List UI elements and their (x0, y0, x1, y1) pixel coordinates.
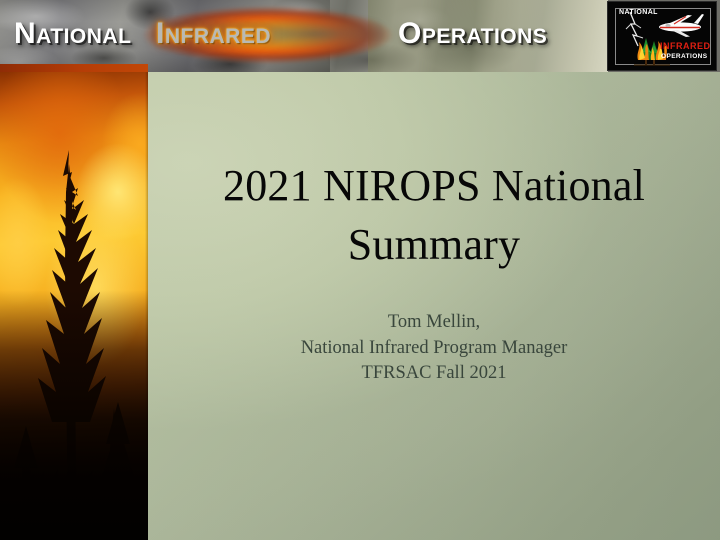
logo-text-operations: OPERATIONS (661, 53, 708, 60)
subtitle-line-role: National Infrared Program Manager (166, 336, 702, 362)
slide-title: 2021 NIROPS National Summary (166, 157, 702, 275)
presentation-slide: National Infrared Operations (0, 0, 720, 540)
nirops-logo: NATIONAL INFRARED OPERATIONS (607, 1, 717, 71)
header-banner: National Infrared Operations (0, 0, 720, 72)
logo-text-infrared: INFRARED (660, 41, 711, 51)
slide-content: 2021 NIROPS National Summary Tom Mellin,… (148, 72, 720, 540)
lightning-icon (626, 12, 643, 46)
aircraft-icon (659, 14, 704, 37)
banner-orange-strip (0, 64, 148, 72)
banner-word-national: National (14, 19, 131, 49)
slide-subtitle: Tom Mellin, National Infrared Program Ma… (166, 310, 702, 387)
wildfire-photo (0, 72, 148, 540)
banner-word-infrared: Infrared (156, 19, 271, 49)
subtitle-line-event: TFRSAC Fall 2021 (166, 361, 702, 387)
banner-word-operations: Operations (398, 19, 547, 49)
subtitle-line-presenter: Tom Mellin, (166, 310, 702, 336)
wildfire-photo-shadow (0, 290, 148, 540)
logo-text-national: NATIONAL (619, 9, 658, 16)
